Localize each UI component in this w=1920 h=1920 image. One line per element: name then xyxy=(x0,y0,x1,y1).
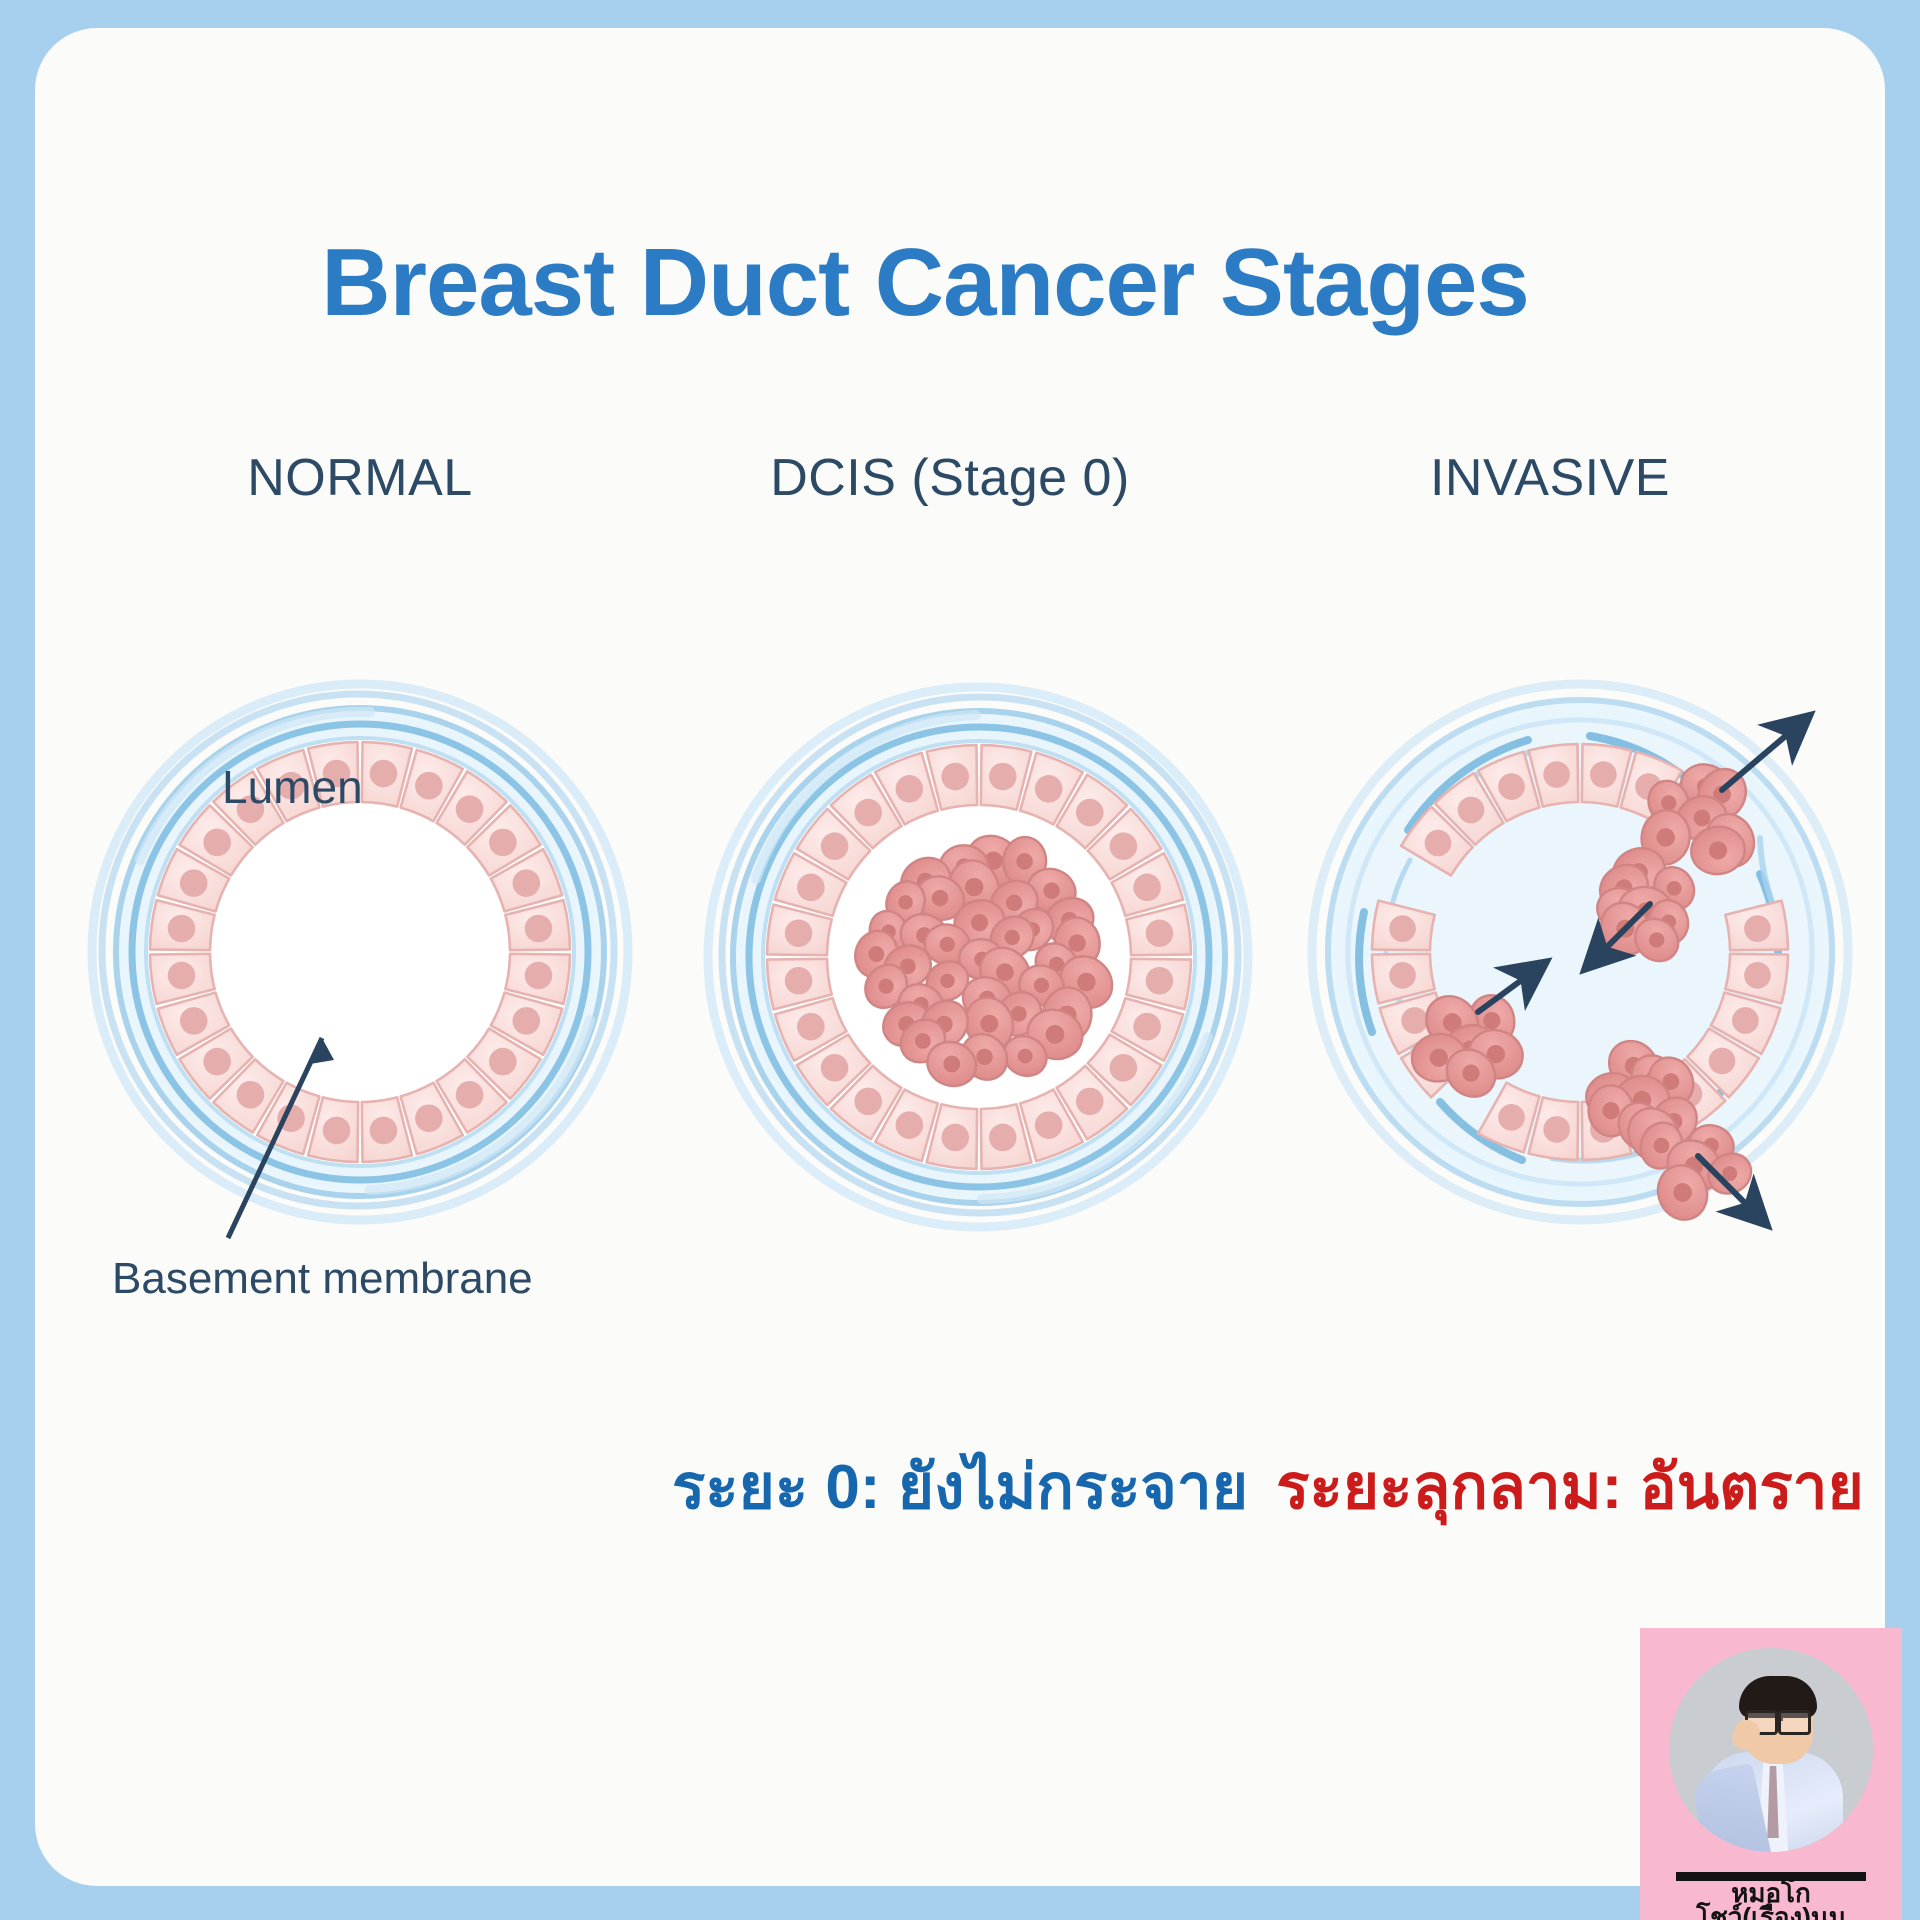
tumor-nucleus xyxy=(940,937,955,952)
tumor-nucleus xyxy=(976,1049,992,1065)
panel-label-dcis: DCIS (Stage 0) xyxy=(640,448,1260,508)
epithelial-nucleus xyxy=(1110,832,1138,860)
epithelial-nucleus xyxy=(797,1013,825,1041)
epithelial-nucleus xyxy=(1458,797,1485,824)
duct-diagram-dcis xyxy=(690,665,1270,1245)
epithelial-nucleus xyxy=(489,829,517,857)
tumor-nucleus xyxy=(943,1056,960,1073)
tumor-nucleus xyxy=(1483,1012,1500,1029)
tumor-nucleus xyxy=(1034,978,1049,993)
epithelial-nucleus xyxy=(1498,773,1525,800)
basement-membrane-invasive xyxy=(1312,684,1848,1220)
epithelial-nucleus xyxy=(821,1054,849,1082)
epithelial-nucleus xyxy=(1035,1111,1063,1139)
tumor-nucleus xyxy=(1661,795,1676,810)
epithelial-nucleus xyxy=(203,829,231,857)
tumor-nucleus xyxy=(1077,973,1096,992)
epithelial-nucleus xyxy=(1076,799,1104,827)
epithelial-nucleus xyxy=(1543,761,1570,788)
epithelial-nucleus xyxy=(489,1048,517,1076)
epithelial-nucleus xyxy=(525,915,553,943)
tumor-nucleus xyxy=(915,1033,931,1049)
tumor-nucleus xyxy=(1656,828,1674,846)
epithelial-nucleus xyxy=(1732,1007,1759,1034)
tumor-nucleus xyxy=(1694,810,1711,827)
epithelial-nucleus xyxy=(1389,915,1416,942)
badge-line-2: โชว์(เรื่อง)นม xyxy=(1640,1904,1902,1920)
tumor-nucleus xyxy=(996,963,1014,981)
epithelial-nucleus xyxy=(203,1048,231,1076)
epithelial-nucleus xyxy=(1543,1116,1570,1143)
tumor-nucleus xyxy=(1016,853,1033,870)
epithelial-nucleus xyxy=(237,1081,265,1109)
tumor-nucleus xyxy=(1654,1138,1670,1154)
epithelial-nucleus xyxy=(1389,962,1416,989)
epithelial-nucleus xyxy=(1133,1013,1161,1041)
tumor-nucleus xyxy=(1006,895,1022,911)
tumor-nucleus xyxy=(1649,932,1664,947)
tumor-nucleus xyxy=(1018,1049,1033,1064)
epithelial-nucleus xyxy=(989,763,1017,791)
epithelial-nucleus xyxy=(854,1088,882,1116)
tumor-nucleus xyxy=(980,1015,998,1033)
epithelial-nucleus xyxy=(168,962,196,990)
tumor-nucleus xyxy=(1046,1025,1065,1044)
tumor-nucleus xyxy=(878,979,893,994)
tumor-nucleus xyxy=(971,914,988,931)
epithelial-nucleus xyxy=(941,1124,969,1152)
epithelial-nucleus xyxy=(168,915,196,943)
doctor-avatar xyxy=(1669,1648,1873,1852)
epithelial-nucleus xyxy=(370,760,398,788)
caption-dcis: ระยะ 0: ยังไม่กระจาย xyxy=(610,1438,1310,1536)
epithelial-nucleus xyxy=(1709,1048,1736,1075)
tumor-nucleus xyxy=(1005,930,1020,945)
duct-diagram-normal xyxy=(70,660,650,1240)
tumor-nucleus xyxy=(965,878,983,896)
epithelial-nucleus xyxy=(1744,962,1771,989)
epithelial-nucleus xyxy=(512,869,540,897)
epithelial-nucleus xyxy=(1146,919,1174,947)
epithelial-nucleus xyxy=(896,1111,924,1139)
epithelial-nucleus xyxy=(1110,1054,1138,1082)
epithelial-nucleus xyxy=(785,919,813,947)
tumor-nucleus xyxy=(898,895,913,910)
epithelial-nucleus xyxy=(989,1124,1017,1152)
epithelial-nucleus xyxy=(797,874,825,902)
epithelial-nucleus xyxy=(180,869,208,897)
epithelial-nucleus xyxy=(512,1007,540,1035)
epithelial-nucleus xyxy=(415,1104,443,1132)
annotation-lumen: Lumen xyxy=(222,760,363,814)
caption-invasive: ระยะลุกลาม: อันตราย xyxy=(1220,1438,1920,1536)
tumor-nucleus xyxy=(1673,1183,1692,1202)
epithelial-nucleus xyxy=(525,962,553,990)
epithelial-nucleus xyxy=(180,1007,208,1035)
epithelial-nucleus xyxy=(821,832,849,860)
panel-label-invasive: INVASIVE xyxy=(1250,448,1850,508)
tumor-nucleus xyxy=(1068,934,1085,951)
tumor-nucleus xyxy=(1602,1102,1619,1119)
epithelial-nucleus xyxy=(415,772,443,800)
epithelial-nucleus xyxy=(1146,967,1174,995)
tumor-nucleus xyxy=(1667,881,1682,896)
epithelial-nucleus xyxy=(1035,775,1063,803)
epithelial-nucleus xyxy=(854,799,882,827)
epithelial-nucleus xyxy=(785,967,813,995)
epithelial-nucleus xyxy=(1076,1088,1104,1116)
epithelial-nucleus xyxy=(1425,830,1452,857)
tumor-nucleus xyxy=(1430,1049,1448,1067)
infographic-canvas: Breast Duct Cancer Stages NORMAL DCIS (S… xyxy=(0,0,1920,1920)
epithelial-nucleus xyxy=(1590,761,1617,788)
epithelial-nucleus xyxy=(456,1081,484,1109)
annotation-basement-membrane: Basement membrane xyxy=(112,1254,533,1304)
epithelial-nucleus xyxy=(1401,1007,1428,1034)
epithelial-nucleus xyxy=(896,775,924,803)
tumor-nucleus xyxy=(868,946,884,962)
epithelial-nucleus xyxy=(456,795,484,823)
epithelial-nucleus xyxy=(1498,1104,1525,1131)
tumor-nucleus xyxy=(1462,1065,1479,1082)
epithelial-nucleus xyxy=(370,1117,398,1145)
tumor-nucleus xyxy=(940,974,954,988)
duct-diagram-invasive xyxy=(1290,660,1870,1240)
tumor-nucleus xyxy=(932,890,948,906)
tumor-nucleus xyxy=(1709,841,1727,859)
epithelial-nucleus xyxy=(1744,915,1771,942)
channel-logo-badge[interactable]: หมอโก โชว์(เรื่อง)นม xyxy=(1640,1628,1902,1920)
tumor-nucleus xyxy=(1043,882,1059,898)
epithelial-nucleus xyxy=(323,1117,351,1145)
page-title: Breast Duct Cancer Stages xyxy=(0,228,1850,338)
epithelial-nucleus xyxy=(941,763,969,791)
epithelial-nucleus xyxy=(1133,874,1161,902)
panel-label-normal: NORMAL xyxy=(60,448,660,508)
